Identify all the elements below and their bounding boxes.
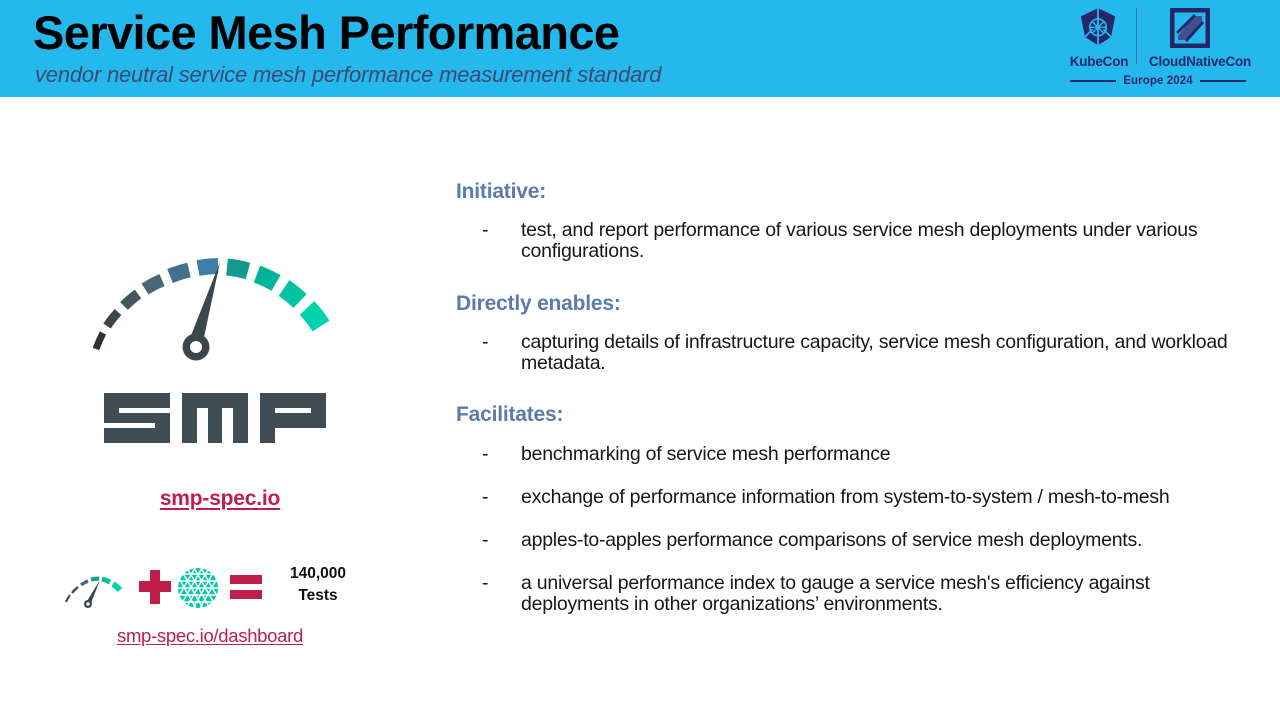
bullet-marker: - <box>482 530 488 551</box>
list-item: - benchmarking of service mesh performan… <box>456 444 1246 465</box>
bullet-marker: - <box>482 444 488 465</box>
left-panel: smp-spec.io <box>0 97 440 720</box>
conference-edition-label: Europe 2024 <box>1123 75 1193 87</box>
tests-count-value: 140,000 <box>290 565 346 582</box>
performance-gauge-icon <box>72 209 362 374</box>
bullet-marker: - <box>482 220 488 241</box>
list-item-text: exchange of performance information from… <box>521 486 1170 508</box>
right-panel: Initiative: - test, and report performan… <box>456 180 1246 615</box>
smp-wordmark <box>100 379 350 457</box>
equals-icon <box>229 574 263 600</box>
rule-left <box>1070 80 1116 82</box>
conference-logo: KubeCon CloudNativeCon Europe 2024 <box>1058 4 1258 92</box>
header-banner: Service Mesh Performance vendor neutral … <box>0 0 1280 97</box>
section-directly-enables: Directly enables: - capturing details of… <box>456 292 1246 374</box>
list-item: - apples-to-apples performance compariso… <box>456 530 1246 551</box>
section-initiative: Initiative: - test, and report performan… <box>456 180 1246 262</box>
smp-spec-link[interactable]: smp-spec.io <box>0 487 440 511</box>
section-heading-initiative: Initiative: <box>456 180 1246 204</box>
list-item-text: capturing details of infrastructure capa… <box>521 331 1228 374</box>
section-facilitates: Facilitates: - benchmarking of service m… <box>456 403 1246 614</box>
bullet-list-directly-enables: - capturing details of infrastructure ca… <box>456 332 1246 374</box>
page-subtitle: vendor neutral service mesh performance … <box>35 62 661 88</box>
list-item-text: a universal performance index to gauge a… <box>521 572 1150 615</box>
list-item: - capturing details of infrastructure ca… <box>456 332 1246 374</box>
small-performance-gauge-icon <box>60 566 132 610</box>
plus-icon <box>138 568 172 606</box>
tests-count-block: 140,000 Tests <box>265 563 371 607</box>
tests-count-unit: Tests <box>298 587 337 604</box>
conference-logo-marks <box>1058 4 1258 50</box>
section-heading-facilitates: Facilitates: <box>456 403 1246 427</box>
list-item: - exchange of performance information fr… <box>456 487 1246 508</box>
cloudnativecon-label: CloudNativeCon <box>1142 54 1258 69</box>
cloudnativecon-square-icon <box>1170 8 1210 48</box>
bullet-marker: - <box>482 332 488 353</box>
kubernetes-helm-icon <box>1076 6 1120 50</box>
bullet-list-initiative: - test, and report performance of variou… <box>456 220 1246 262</box>
conference-logo-names: KubeCon CloudNativeCon <box>1058 54 1258 72</box>
bullet-marker: - <box>482 487 488 508</box>
bullet-marker: - <box>482 573 488 594</box>
list-item-text: apples-to-apples performance comparisons… <box>521 529 1142 551</box>
list-item: - a universal performance index to gauge… <box>456 573 1246 615</box>
meshery-mesh-circle-icon <box>177 567 219 609</box>
list-item-text: test, and report performance of various … <box>521 219 1197 262</box>
list-item-text: benchmarking of service mesh performance <box>521 443 890 465</box>
bullet-list-facilitates: - benchmarking of service mesh performan… <box>456 444 1246 614</box>
smp-dashboard-link[interactable]: smp-spec.io/dashboard <box>0 625 420 647</box>
list-item: - test, and report performance of variou… <box>456 220 1246 262</box>
kubecon-label: KubeCon <box>1064 54 1134 69</box>
section-heading-directly-enables: Directly enables: <box>456 292 1246 316</box>
tests-equation-row: 140,000 Tests <box>55 562 375 618</box>
rule-right <box>1200 80 1246 82</box>
conference-edition-row: Europe 2024 <box>1058 74 1258 88</box>
page-title: Service Mesh Performance <box>33 5 619 60</box>
